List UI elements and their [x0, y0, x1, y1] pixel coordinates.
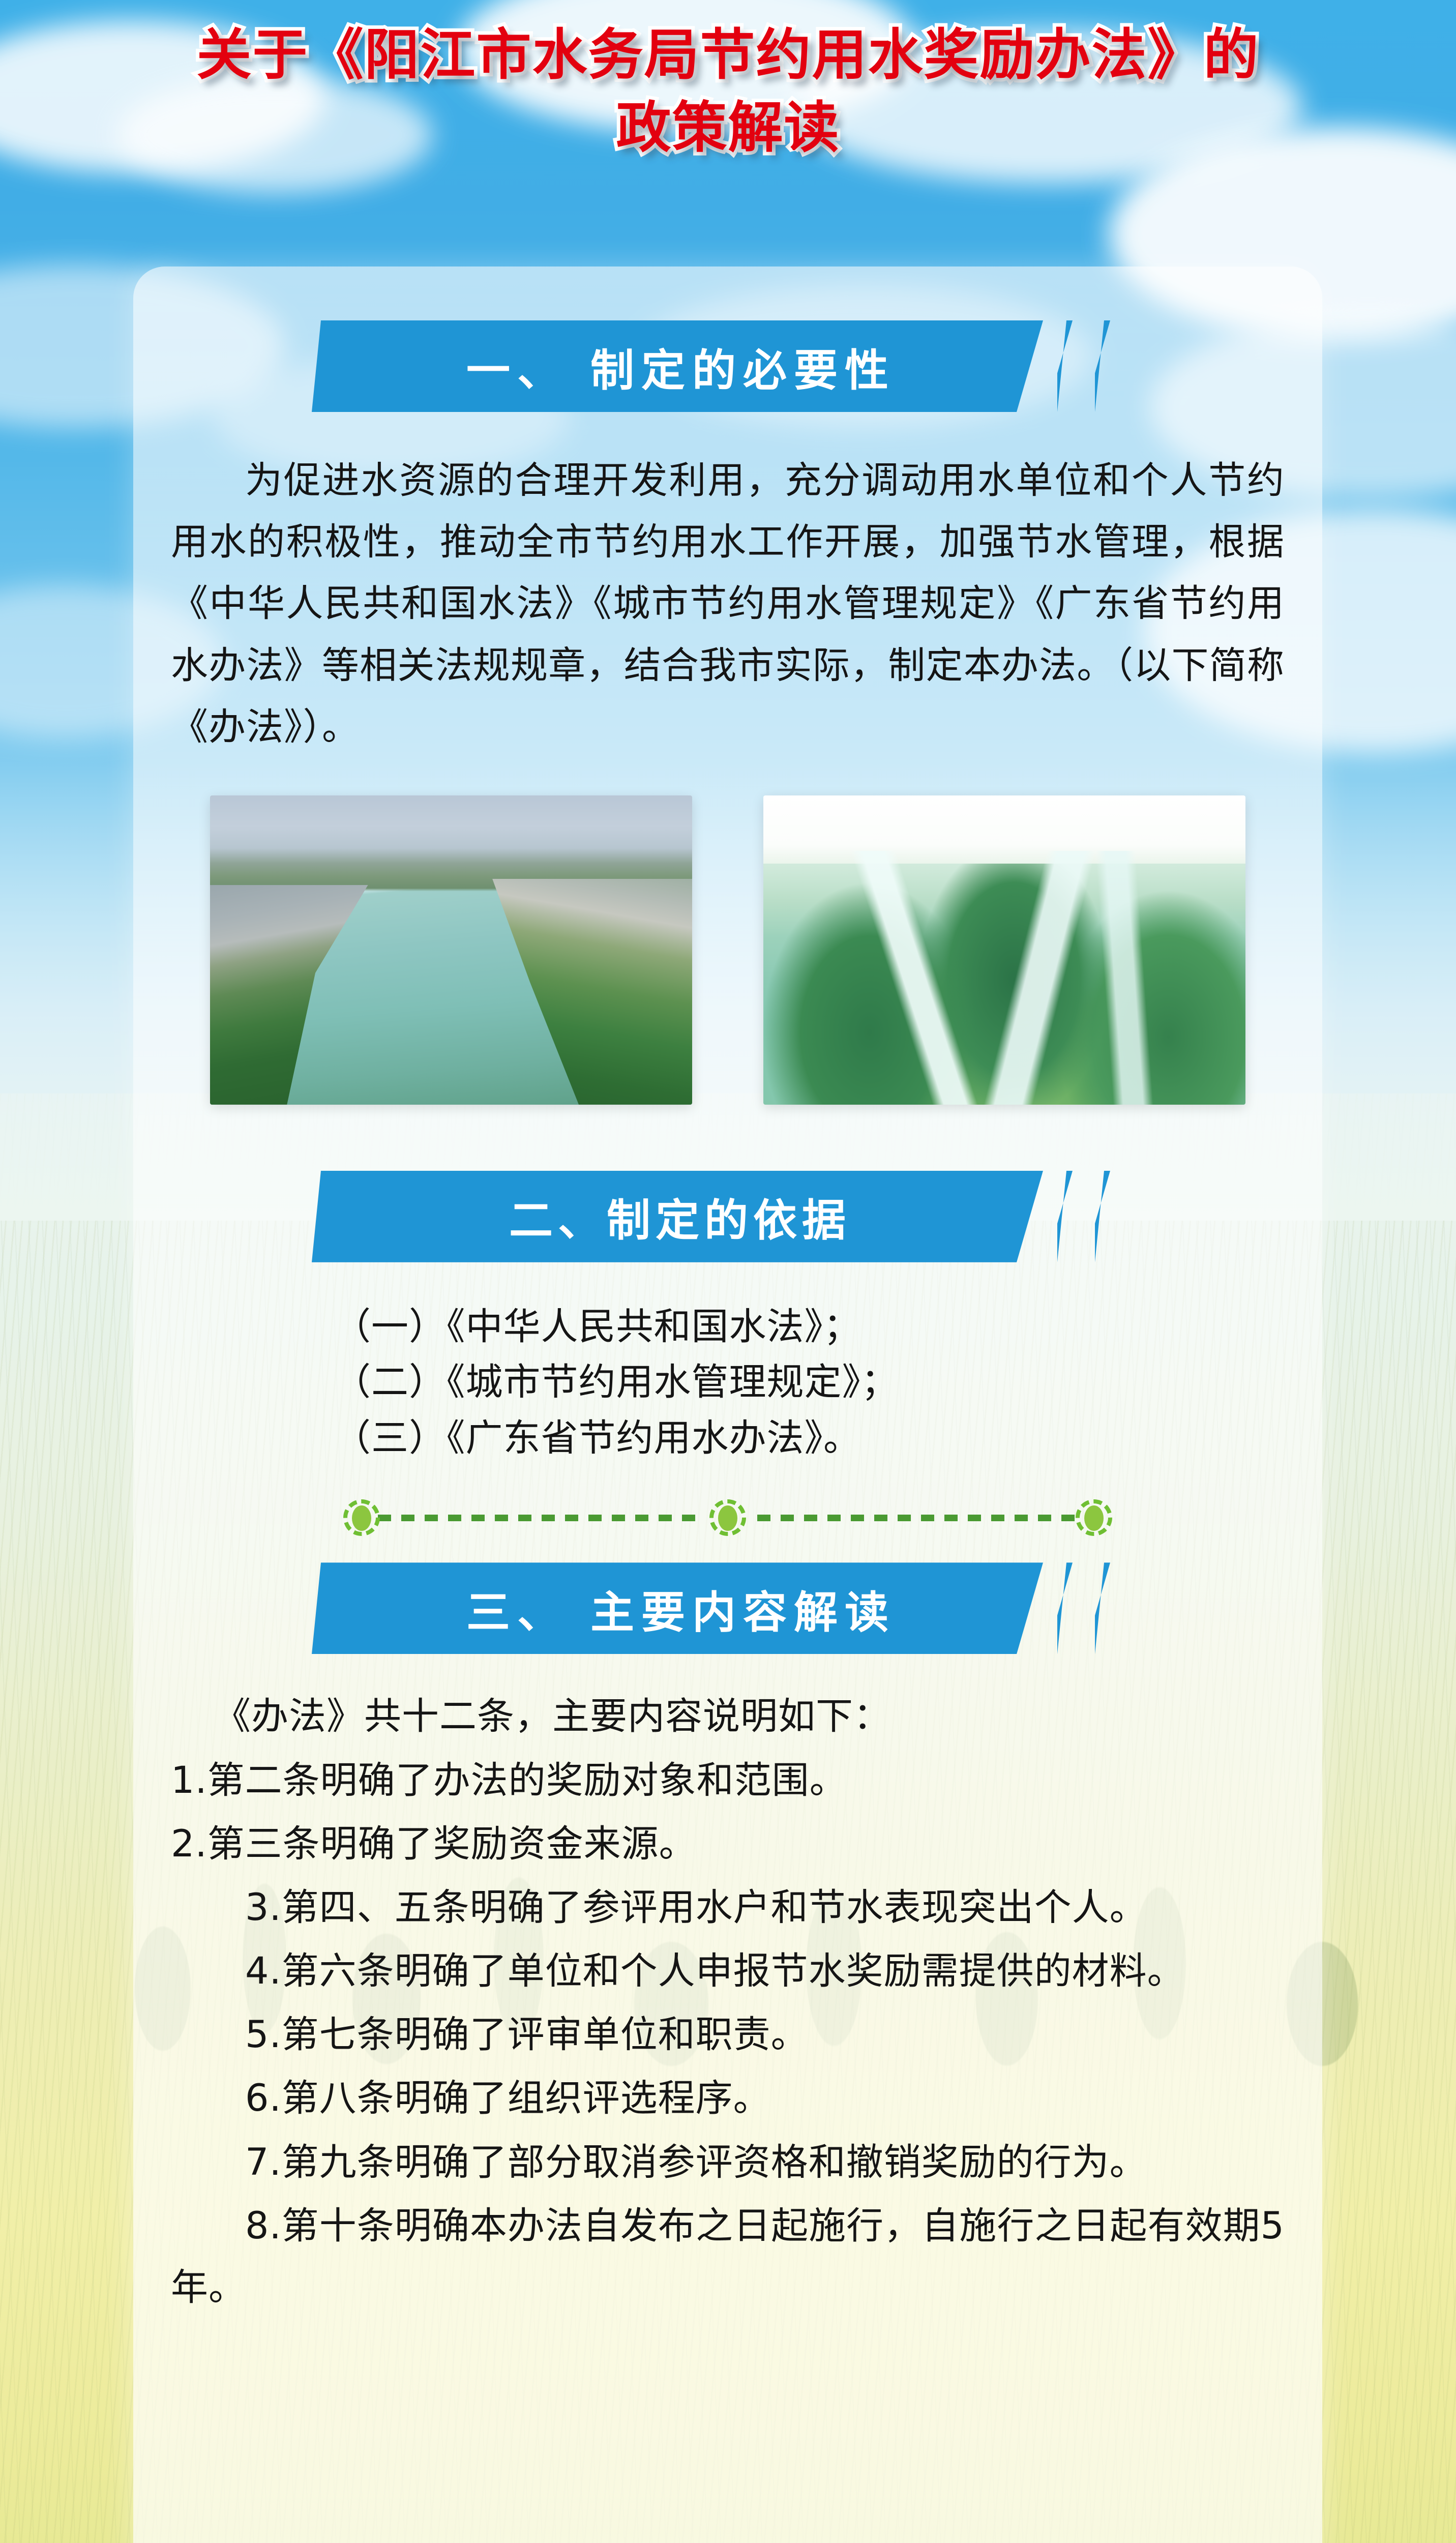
main-content-lead: 《办法》共十二条，主要内容说明如下：	[171, 1686, 1285, 1747]
banner-stripe	[1057, 1562, 1073, 1654]
main-content-item: 5.第七条明确了评审单位和职责。	[171, 2004, 1285, 2065]
section-necessity: 一、 制定的必要性 为促进水资源的合理开发利用，充分调动用水单位和个人节约用水的…	[133, 320, 1322, 1105]
photo-row	[133, 795, 1322, 1105]
banner-stripe	[1095, 1171, 1110, 1262]
main-content-item: 8.第十条明确本办法自发布之日起施行，自施行之日起有效期5年。	[171, 2195, 1285, 2318]
section-banner-necessity: 一、 制定的必要性	[312, 320, 1144, 420]
main-content-item: 3.第四、五条明确了参评用水户和节水表现突出个人。	[171, 1877, 1285, 1938]
main-content-item: 6.第八条明确了组织评选程序。	[171, 2067, 1285, 2129]
section-heading-necessity: 一、 制定的必要性	[312, 320, 1043, 412]
section-banner-basis: 二、制定的依据	[312, 1171, 1144, 1270]
paragraph: 为促进水资源的合理开发利用，充分调动用水单位和个人节约用水的积极性，推动全市节约…	[171, 450, 1285, 758]
list-item: （二）《城市节约用水管理规定》；	[334, 1354, 1322, 1410]
divider-node-icon	[1076, 1499, 1112, 1536]
main-content-item: 2.第三条明确了奖励资金来源。	[171, 1813, 1285, 1875]
page-title: 关于《阳江市水务局节约用水奖励办法》的 政策解读	[0, 19, 1456, 164]
section-banner-main-content: 三、 主要内容解读	[312, 1562, 1144, 1662]
divider-node-icon	[343, 1499, 380, 1536]
banner-stripe	[1057, 1171, 1073, 1262]
list-item: （三）《广东省节约用水办法》。	[334, 1410, 1322, 1466]
section-body-necessity: 为促进水资源的合理开发利用，充分调动用水单位和个人节约用水的积极性，推动全市节约…	[171, 450, 1285, 758]
main-content-item: 1.第二条明确了办法的奖励对象和范围。	[171, 1750, 1285, 1811]
divider-dash-segment	[757, 1515, 1083, 1521]
section-heading-basis: 二、制定的依据	[312, 1171, 1043, 1262]
banner-stripe	[1095, 1562, 1110, 1654]
content-card: 一、 制定的必要性 为促进水资源的合理开发利用，充分调动用水单位和个人节约用水的…	[133, 267, 1322, 2543]
divider-node-icon	[709, 1499, 746, 1536]
section-basis: 二、制定的依据 （一）《中华人民共和国水法》； （二）《城市节约用水管理规定》；…	[133, 1171, 1322, 1543]
main-content-item: 7.第九条明确了部分取消参评资格和撤销奖励的行为。	[171, 2132, 1285, 2193]
list-item: （一）《中华人民共和国水法》；	[334, 1299, 1322, 1355]
banner-stripe	[1057, 320, 1073, 412]
river-through-town-aerial-photo	[210, 795, 692, 1105]
policy-interpretation-poster: 关于《阳江市水务局节约用水奖励办法》的 政策解读 一、 制定的必要性 为促进水资…	[0, 0, 1456, 2543]
section-main-content: 三、 主要内容解读 《办法》共十二条，主要内容说明如下： 1.第二条明确了办法的…	[133, 1562, 1322, 2318]
dashed-divider	[331, 1493, 1124, 1542]
main-content-body: 《办法》共十二条，主要内容说明如下： 1.第二条明确了办法的奖励对象和范围。 2…	[171, 1686, 1285, 2318]
basis-list: （一）《中华人民共和国水法》； （二）《城市节约用水管理规定》； （三）《广东省…	[334, 1299, 1322, 1466]
page-title-line-2: 政策解读	[0, 92, 1456, 165]
braided-river-forest-aerial-photo	[763, 795, 1245, 1105]
divider-dash-segment	[378, 1515, 703, 1521]
banner-stripe	[1095, 320, 1110, 412]
main-content-item: 4.第六条明确了单位和个人申报节水奖励需提供的材料。	[171, 1940, 1285, 2002]
section-heading-main-content: 三、 主要内容解读	[312, 1562, 1043, 1654]
page-title-line-1: 关于《阳江市水务局节约用水奖励办法》的	[0, 19, 1456, 92]
